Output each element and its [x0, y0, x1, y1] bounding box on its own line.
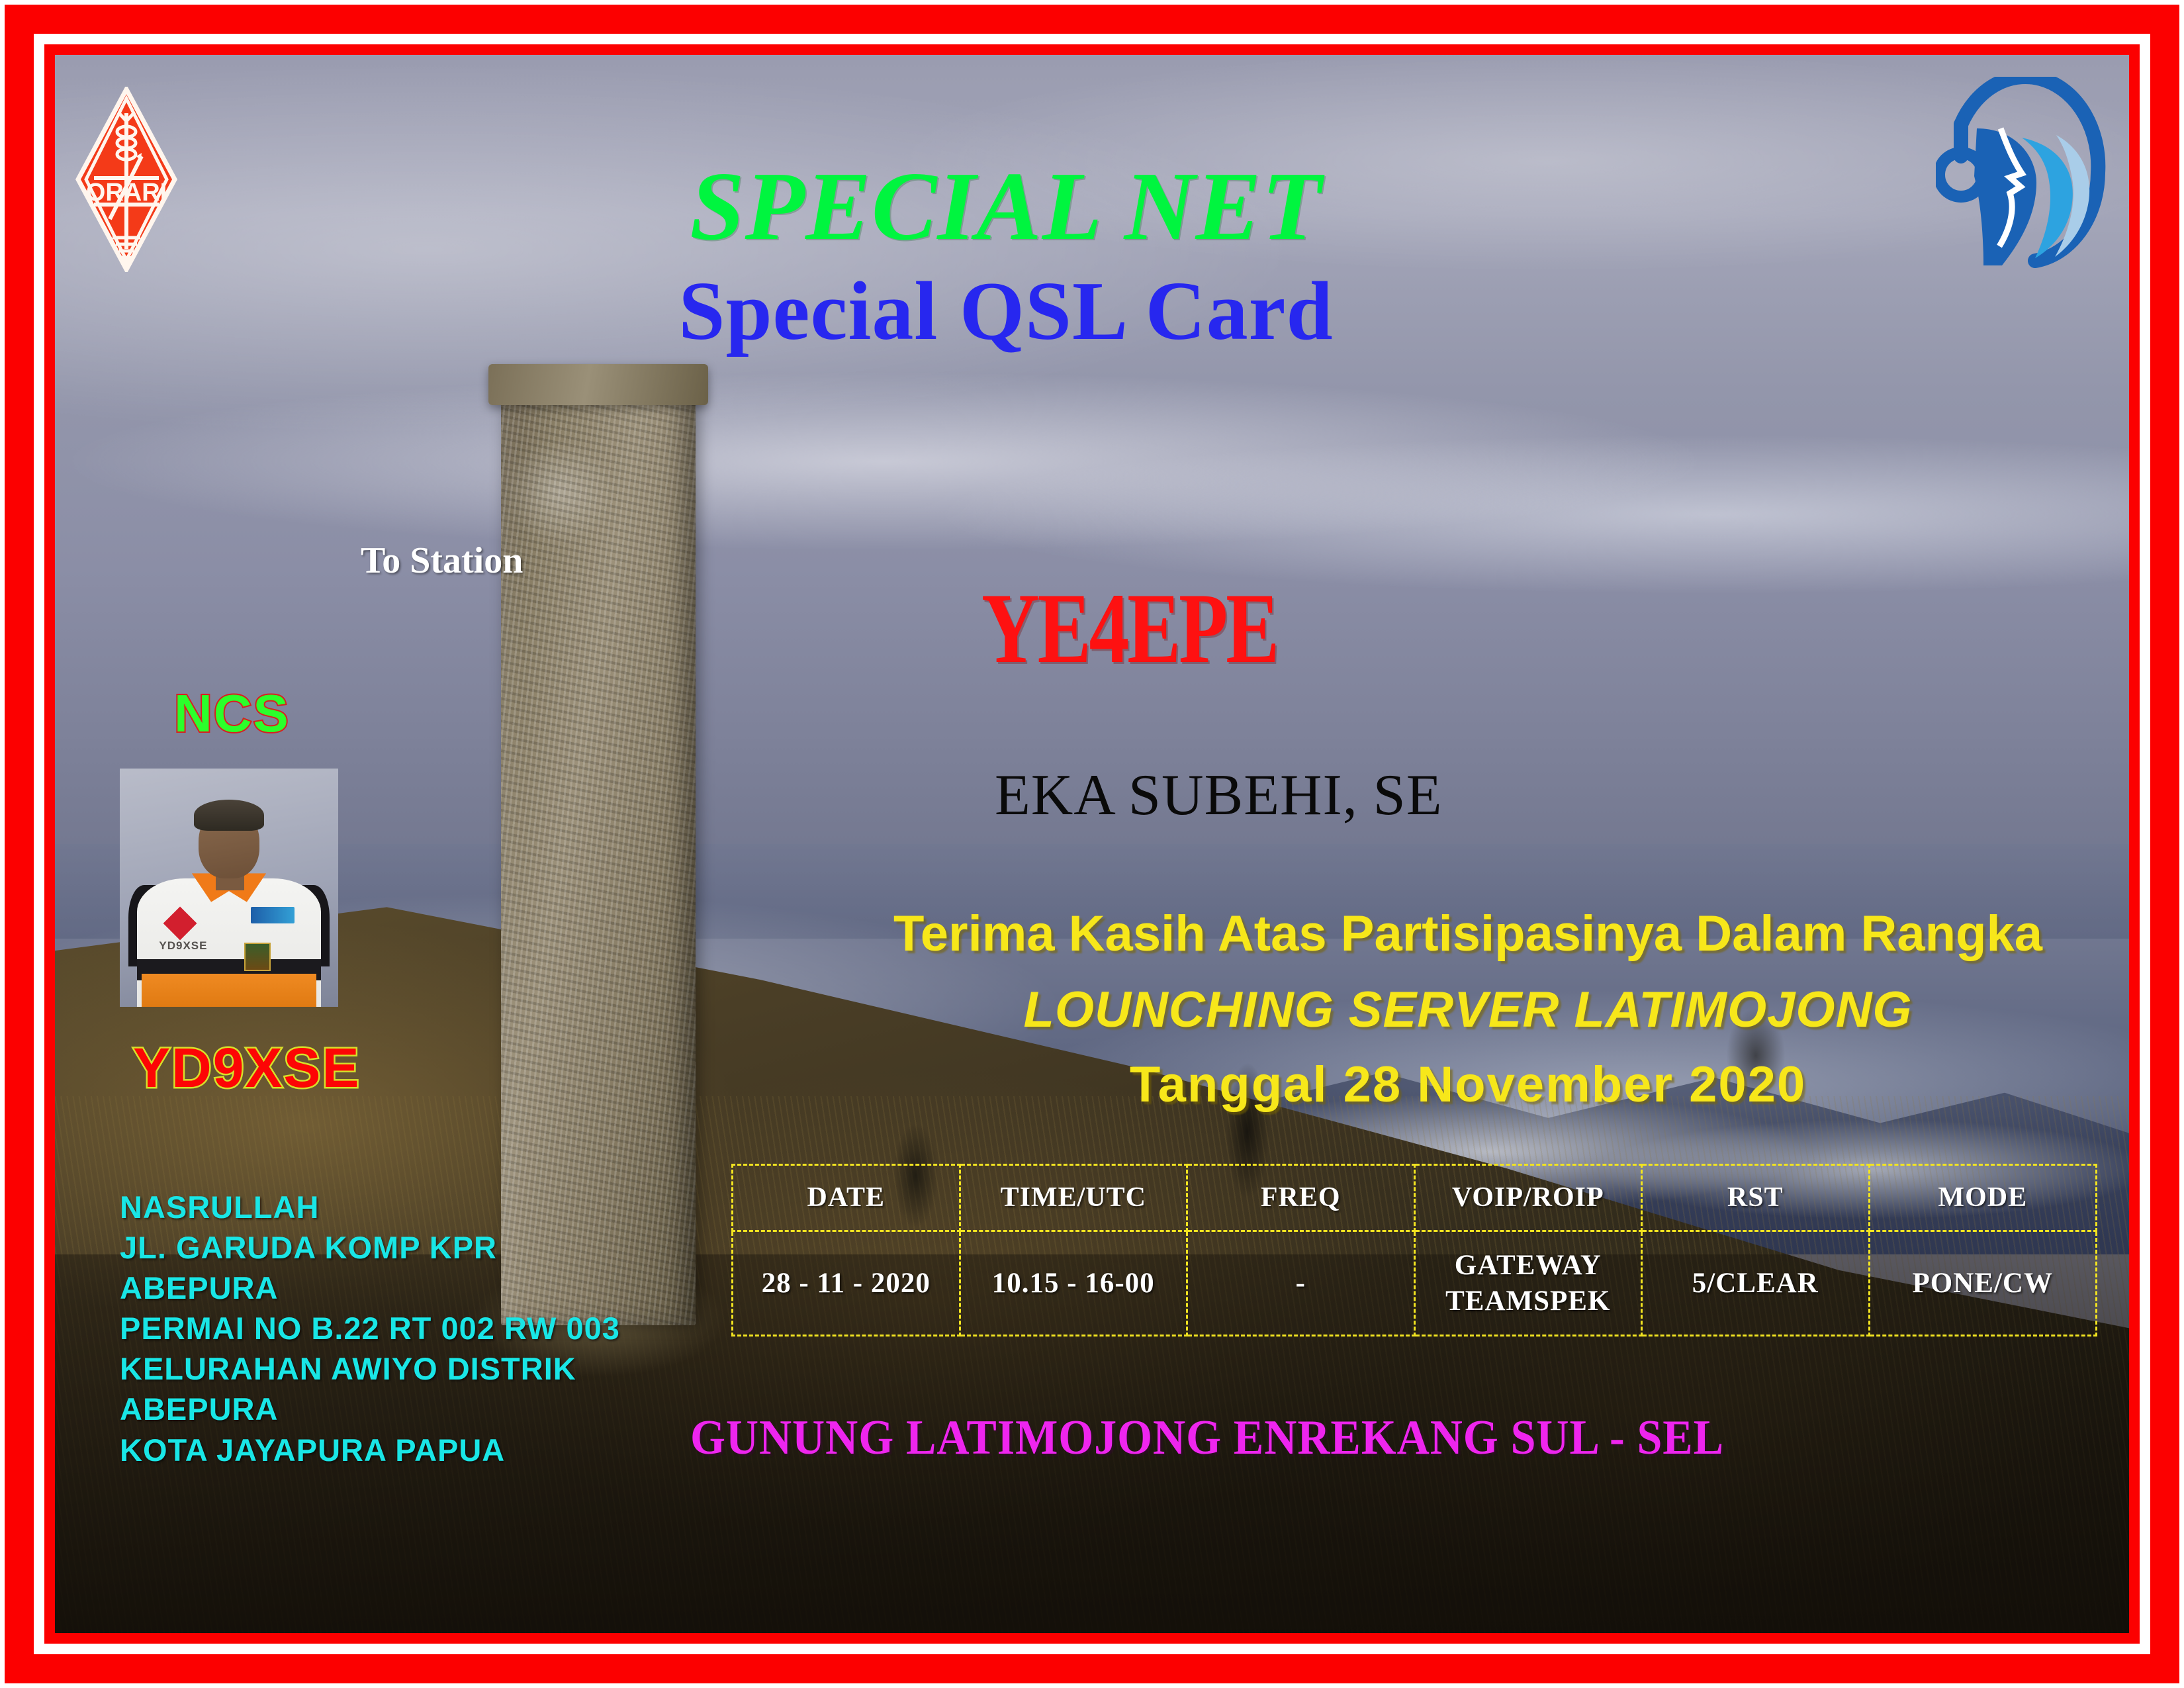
table-header-rst: RST — [1642, 1165, 1870, 1231]
photo-id-card — [244, 943, 271, 971]
address-line: ABEPURA — [120, 1389, 620, 1429]
table-header-mode: MODE — [1869, 1165, 2097, 1231]
white-border-gap: ORARI — [34, 34, 2150, 1654]
thanks-line-1: Terima Kasih Atas Partisipasinya Dalam R… — [819, 909, 2116, 959]
operator-name: EKA SUBEHI, SE — [995, 767, 1921, 825]
thanks-line-2: LOUNCHING SERVER LATIMOJONG — [819, 985, 2116, 1035]
photo-shirt-callsign: YD9XSE — [159, 940, 207, 951]
page-title-special-net: SPECIAL NET — [55, 158, 2043, 256]
cell-rst: 5/CLEAR — [1642, 1231, 1870, 1336]
photo-chest-badge — [251, 907, 295, 923]
qso-log-table: DATE TIME/UTC FREQ VOIP/ROIP RST MODE 28… — [731, 1164, 2097, 1336]
inner-red-border: ORARI — [44, 44, 2140, 1644]
pillar-cap — [488, 364, 708, 405]
table-header-time: TIME/UTC — [960, 1165, 1187, 1231]
address-line: PERMAI NO B.22 RT 002 RW 003 — [120, 1308, 620, 1348]
thanks-line-3: Tanggal 28 November 2020 — [819, 1060, 2116, 1110]
address-line: JL. GARUDA KOMP KPR — [120, 1227, 620, 1268]
cell-voip: GATEWAY TEAMSPEK — [1414, 1231, 1642, 1336]
qsl-card: ORARI — [0, 0, 2184, 1688]
card-background-photo: ORARI — [55, 55, 2129, 1633]
address-line: KOTA JAYAPURA PAPUA — [120, 1430, 620, 1470]
ncs-callsign: YD9XSE — [133, 1040, 361, 1096]
cell-mode: PONE/CW — [1869, 1231, 2097, 1336]
outer-red-border: ORARI — [5, 5, 2179, 1683]
stone-pillar-monument — [501, 379, 696, 1325]
table-header-row: DATE TIME/UTC FREQ VOIP/ROIP RST MODE — [733, 1165, 2097, 1231]
ncs-label: NCS — [174, 687, 290, 740]
to-station-label: To Station — [361, 542, 523, 579]
page-subtitle-qsl-card: Special QSL Card — [55, 270, 2043, 353]
website-address: Address : amatir.latimojong.com — [1312, 1629, 1926, 1633]
address-line: NASRULLAH — [120, 1187, 620, 1227]
ncs-address-block: NASRULLAH JL. GARUDA KOMP KPR ABEPURA PE… — [120, 1187, 620, 1470]
photo-orange-sash — [142, 974, 316, 1007]
table-header-freq: FREQ — [1187, 1165, 1415, 1231]
table-header-date: DATE — [733, 1165, 960, 1231]
event-location: GUNUNG LATIMOJONG ENREKANG SUL - SEL — [690, 1413, 1847, 1462]
cell-date: 28 - 11 - 2020 — [733, 1231, 960, 1336]
address-line: ABEPURA — [120, 1268, 620, 1308]
photo-hair — [194, 800, 264, 831]
ncs-operator-photo: YD9XSE — [120, 769, 338, 1007]
address-line: KELURAHAN AWIYO DISTRIK — [120, 1348, 620, 1389]
table-header-voip: VOIP/ROIP — [1414, 1165, 1642, 1231]
cell-freq: - — [1187, 1231, 1415, 1336]
cell-time: 10.15 - 16-00 — [960, 1231, 1187, 1336]
station-callsign: YE4EPE — [981, 578, 1617, 679]
club-motto: "AMATIR RADIO ADALAH PROGRESIVE" — [128, 1630, 993, 1633]
table-row: 28 - 11 - 2020 10.15 - 16-00 - GATEWAY T… — [733, 1231, 2097, 1336]
